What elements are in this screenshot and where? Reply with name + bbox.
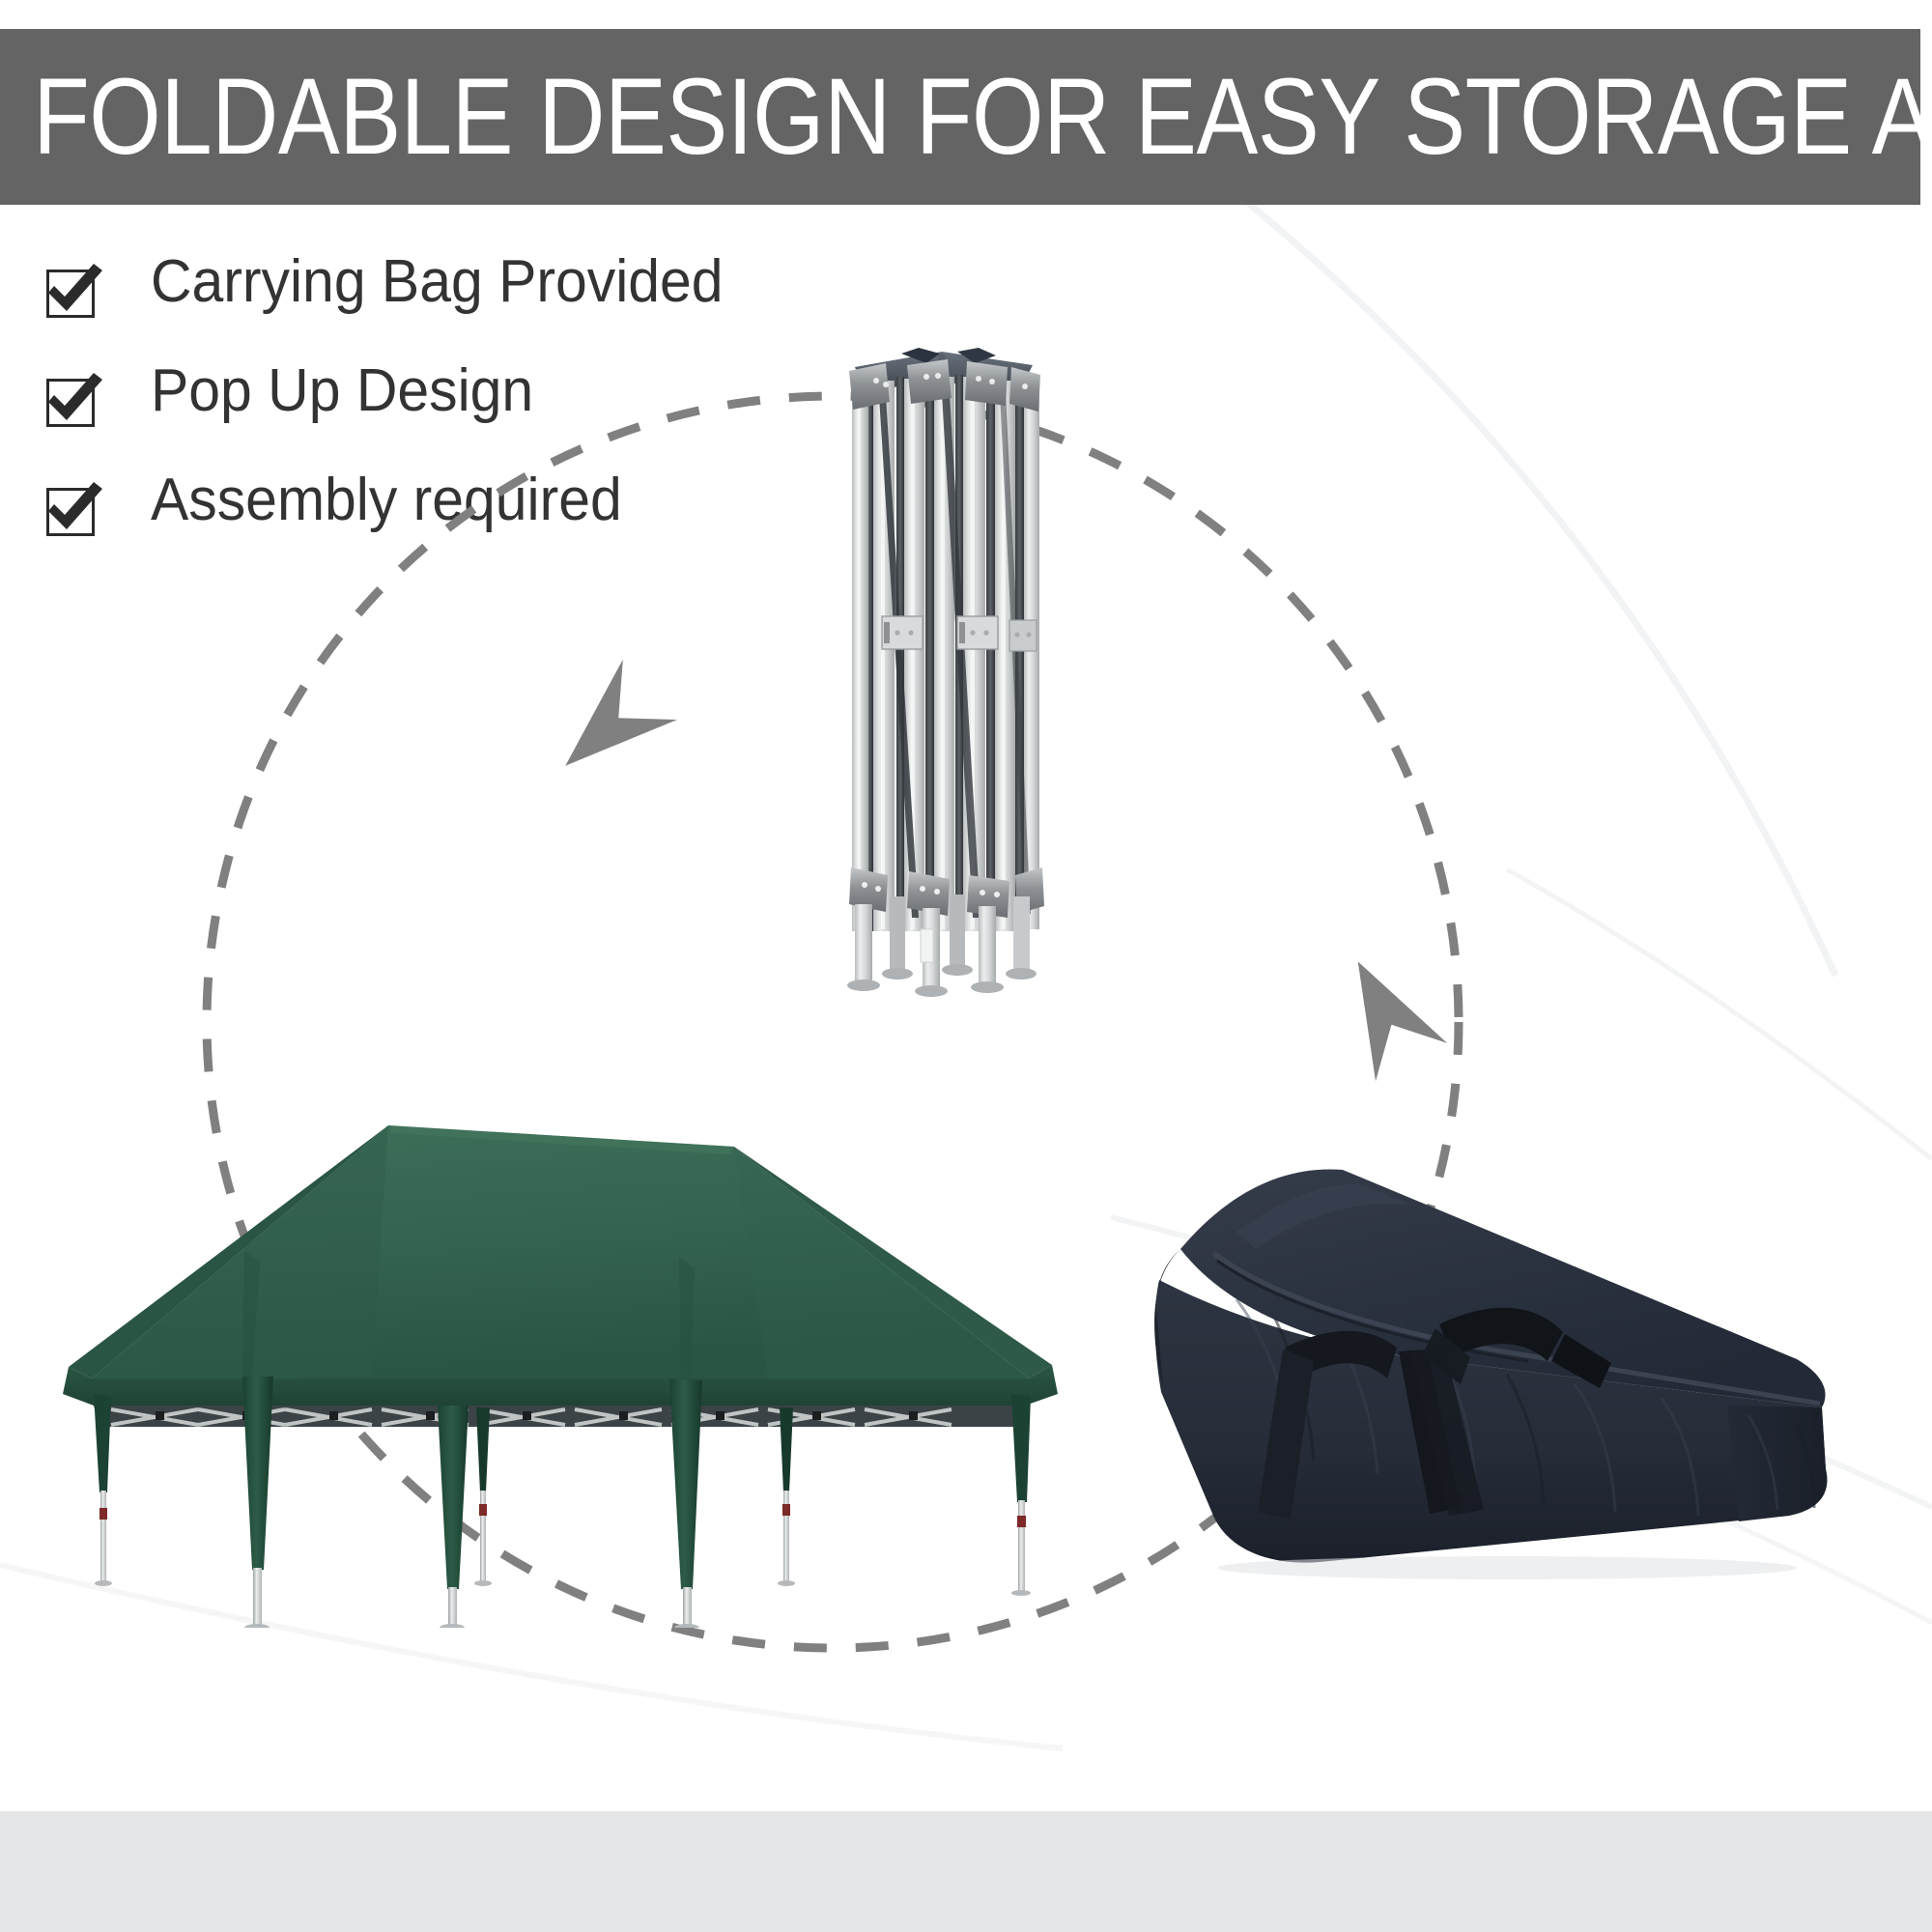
header-banner: FOLDABLE DESIGN FOR EASY STORAGE AND TRA… xyxy=(0,29,1920,205)
canopy-leg xyxy=(438,1406,469,1628)
list-item: Pop Up Design xyxy=(39,355,908,465)
page-title: FOLDABLE DESIGN FOR EASY STORAGE AND TRA… xyxy=(0,63,1932,171)
canopy-leg xyxy=(94,1394,112,1586)
canopy-leg xyxy=(242,1377,273,1628)
folded-frame xyxy=(826,338,1058,1000)
canopy-leg xyxy=(669,1378,702,1628)
arrow-to-carry-bag-icon xyxy=(1322,943,1448,1082)
list-item: Carrying Bag Provided xyxy=(39,246,908,355)
infographic-canvas: FOLDABLE DESIGN FOR EASY STORAGE AND TRA… xyxy=(0,0,1932,1932)
checkbox-checked-icon xyxy=(39,260,102,324)
checkbox-checked-icon xyxy=(39,478,102,542)
canopy-leg xyxy=(474,1407,492,1586)
footer-strip xyxy=(0,1811,1932,1932)
arrow-to-folded-frame-icon xyxy=(538,660,677,796)
canopy-leg xyxy=(1011,1394,1031,1596)
checkbox-checked-icon xyxy=(39,369,102,433)
carry-bag xyxy=(1121,1125,1884,1579)
green-canopy xyxy=(53,1087,1067,1628)
canopy-leg xyxy=(778,1407,795,1586)
list-item: Assembly required xyxy=(39,465,908,574)
list-item-label: Pop Up Design xyxy=(151,361,533,421)
list-item-label: Carrying Bag Provided xyxy=(151,252,724,312)
feature-list: Carrying Bag Provided Pop Up Design Asse… xyxy=(39,246,908,574)
list-item-label: Assembly required xyxy=(151,470,622,530)
